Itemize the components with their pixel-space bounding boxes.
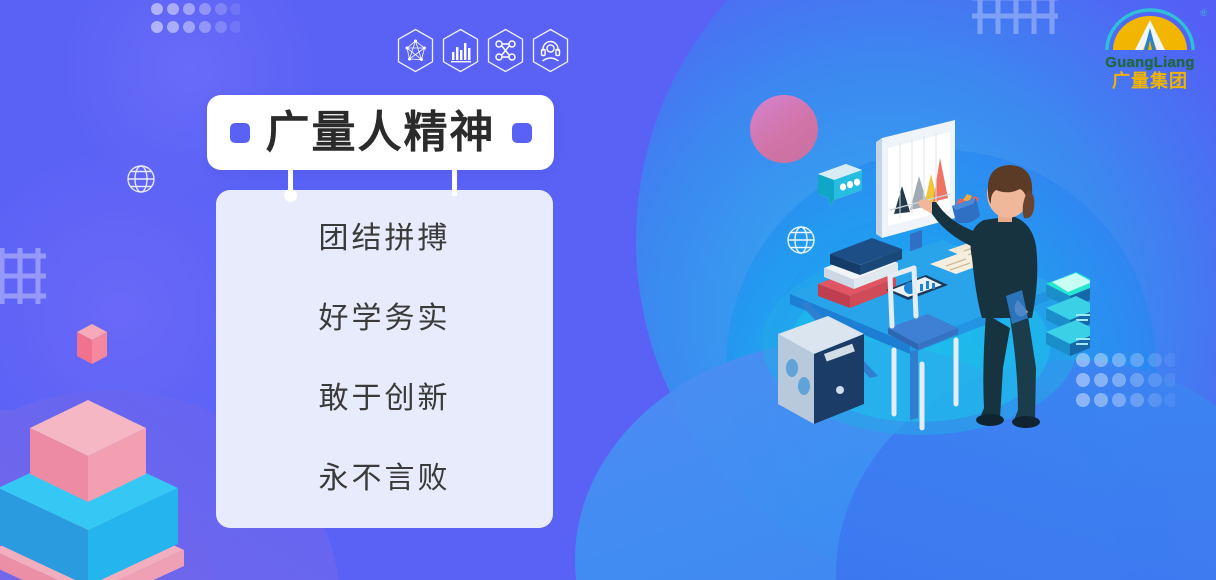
pen-holder [952,194,980,223]
headset-support-icon [531,28,570,73]
logo-chinese-name: 广量集团 [1096,71,1204,93]
bar-chart-icon [441,28,480,73]
connector-dot [284,189,297,202]
value-item-2: 好学务实 [319,279,451,359]
isometric-cube-stack [0,398,203,580]
value-item-3: 敢于创新 [319,359,451,439]
company-logo[interactable]: ® GuangLiang 广量集团 [1096,6,1204,93]
network-graph-icon [396,28,435,73]
connector-line-right [452,168,457,196]
office-workspace-illustration [760,118,1090,448]
value-item-4: 永不言败 [319,439,451,519]
title-accent-square-right [512,123,532,143]
dot-grid-top-left [150,0,240,34]
banner-canvas: 广量人精神 团结拼搏 好学务实 敢于创新 永不言败 ® GuangLiang 广… [0,0,1216,580]
command-nodes-icon [486,28,525,73]
pc-tower [778,316,864,424]
values-panel: 团结拼搏 好学务实 敢于创新 永不言败 [216,190,553,528]
title-card: 广量人精神 [207,95,554,170]
logo-english-name: GuangLiang [1096,54,1204,71]
hex-icon-row [396,28,570,73]
server-rack [1046,272,1090,356]
value-item-1: 团结拼搏 [319,199,451,279]
dot-grid-bottom-right [1075,352,1175,408]
isometric-mini-cube [74,322,110,368]
chat-bubble-icon [812,160,864,210]
logo-dome-icon: ® [1101,6,1199,54]
line-grid-left [0,248,46,304]
globe-icon-center [786,225,816,255]
globe-icon-left [126,164,156,194]
title-accent-square-left [230,123,250,143]
line-grid-top-right [972,0,1058,34]
trademark-symbol: ® [1200,8,1207,18]
page-title: 广量人精神 [266,111,496,155]
